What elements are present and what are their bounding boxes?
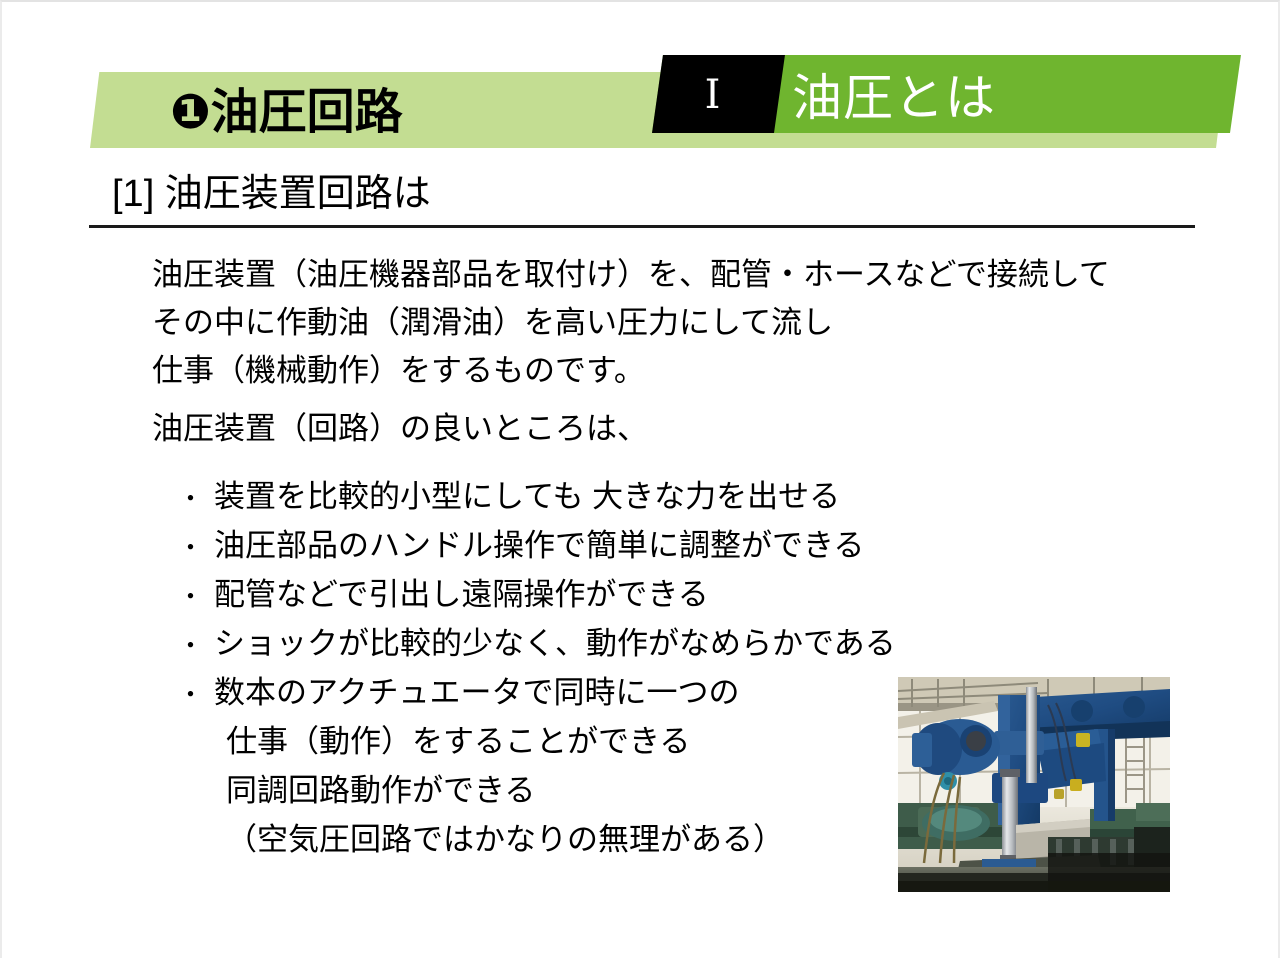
list-item-label: 油圧部品のハンドル操作で簡単に調整ができる [214, 520, 864, 565]
list-item-continuation: 仕事（動作）をすることができる [226, 716, 690, 761]
list-item: ・ 数本のアクチュエータで同時に一つの [178, 667, 739, 712]
bullet-point-icon: ・ [178, 626, 214, 662]
list-item-label: 装置を比較的小型にしても 大きな力を出せる [214, 471, 840, 516]
header-roman-numeral: Ⅰ [652, 55, 774, 133]
section-title: [1] 油圧装置回路は [112, 162, 431, 217]
paragraph-line-3: 仕事（機械動作）をするものです。 [152, 355, 645, 386]
paragraph-line-2: その中に作動油（潤滑油）を高い圧力にして流し [152, 307, 833, 338]
bullet-point-icon: ・ [178, 479, 214, 515]
header-right-title: 油圧とは [792, 54, 996, 134]
paragraph-line-4: 油圧装置（回路）の良いところは、 [152, 413, 648, 444]
list-item-continuation: （空気圧回路ではかなりの無理がある） [226, 814, 784, 859]
slide-header: Ⅰ 油圧とは ❶油圧回路 [2, 2, 1280, 162]
list-item-label: 数本のアクチュエータで同時に一つの [214, 667, 739, 712]
header-left-title: ❶油圧回路 [170, 66, 403, 148]
list-item: ・ 配管などで引出し遠隔操作ができる [178, 569, 709, 614]
list-item-label: 配管などで引出し遠隔操作ができる [214, 569, 709, 614]
bullet-point-icon: ・ [178, 528, 214, 564]
list-item-label: ショックが比較的少なく、動作がなめらかである [214, 618, 896, 663]
bullet-point-icon: ・ [178, 577, 214, 613]
photo-illustration [898, 677, 1170, 892]
list-item: ・ ショックが比較的少なく、動作がなめらかである [178, 618, 896, 663]
list-item: ・ 油圧部品のハンドル操作で簡単に調整ができる [178, 520, 864, 565]
section-title-divider [89, 225, 1195, 228]
hydraulic-press-machine-photo [898, 677, 1170, 892]
paragraph-line-1: 油圧装置（油圧機器部品を取付け）を、配管・ホースなどで接続して [152, 259, 1110, 290]
slide-canvas: Ⅰ 油圧とは ❶油圧回路 [1] 油圧装置回路は 油圧装置（油圧機器部品を取付け… [0, 0, 1280, 958]
list-item-continuation: 同調回路動作ができる [226, 765, 535, 810]
bullet-point-icon: ・ [178, 675, 214, 711]
list-item: ・ 装置を比較的小型にしても 大きな力を出せる [178, 471, 840, 516]
